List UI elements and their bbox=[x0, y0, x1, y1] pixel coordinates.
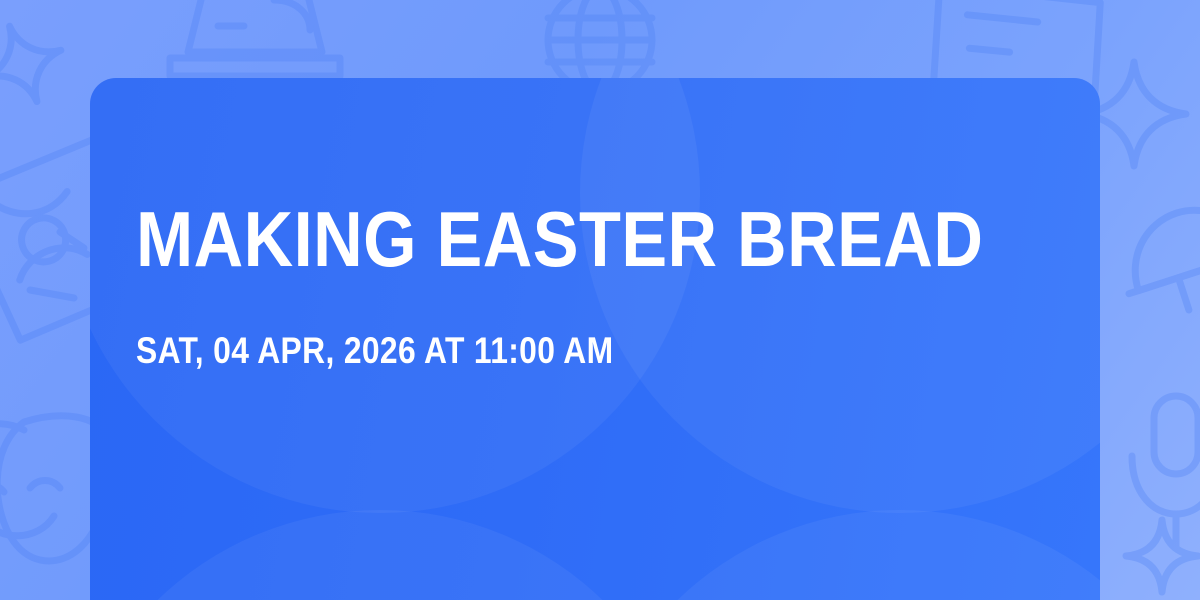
decor-circle-bottom-left bbox=[90, 510, 700, 600]
star-icon bbox=[0, 13, 75, 116]
decor-circle-bottom-right bbox=[580, 510, 1100, 600]
event-datetime: Sat, 04 Apr, 2026 at 11:00 AM bbox=[136, 332, 913, 369]
laptop-icon bbox=[170, 0, 340, 76]
sparkle-icon bbox=[1126, 520, 1198, 592]
balloon-icon bbox=[1110, 192, 1200, 361]
event-banner: Making Easter Bread Sat, 04 Apr, 2026 at… bbox=[0, 0, 1200, 600]
sparkle-icon bbox=[30, 232, 84, 298]
event-card: Making Easter Bread Sat, 04 Apr, 2026 at… bbox=[90, 78, 1100, 600]
event-title: Making Easter Bread bbox=[136, 204, 932, 276]
event-text-block: Making Easter Bread Sat, 04 Apr, 2026 at… bbox=[136, 204, 1040, 369]
